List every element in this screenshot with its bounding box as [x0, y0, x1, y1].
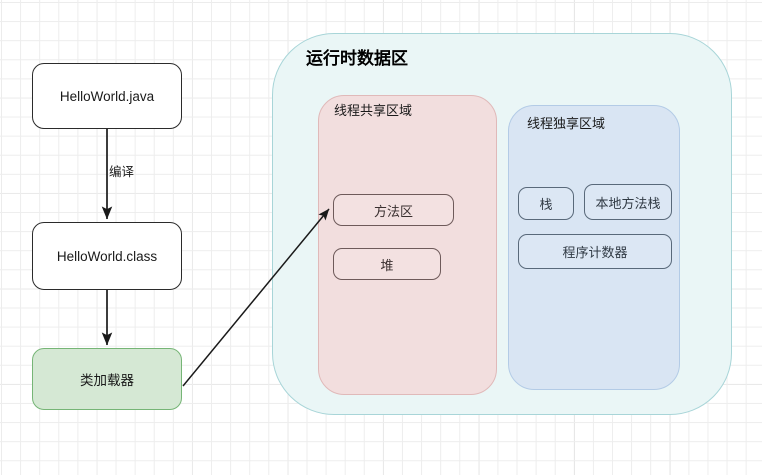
- stack-box[interactable]: 栈: [518, 187, 574, 220]
- method-area-box[interactable]: 方法区: [333, 194, 454, 226]
- thread-private-region-label: 线程独享区域: [527, 113, 605, 132]
- thread-shared-region-label: 线程共享区域: [334, 100, 412, 119]
- class-loader-box[interactable]: 类加载器: [32, 348, 182, 410]
- heap-label: 堆: [380, 255, 393, 274]
- source-file-box[interactable]: HelloWorld.java: [32, 63, 182, 129]
- native-method-stack-box[interactable]: 本地方法栈: [584, 184, 672, 220]
- native-method-stack-label: 本地方法栈: [595, 193, 660, 212]
- page-title: 运行时数据区: [306, 44, 408, 69]
- class-loader-label: 类加载器: [80, 369, 134, 389]
- class-file-box[interactable]: HelloWorld.class: [32, 222, 182, 290]
- diagram-canvas: 运行时数据区 线程共享区域 方法区 堆 线程独享区域 栈 本地方法栈 程序计数器…: [0, 0, 762, 475]
- thread-shared-region: [318, 95, 497, 395]
- heap-box[interactable]: 堆: [333, 248, 441, 280]
- program-counter-label: 程序计数器: [562, 242, 627, 261]
- method-area-label: 方法区: [374, 201, 413, 220]
- source-file-label: HelloWorld.java: [60, 89, 154, 104]
- class-file-label: HelloWorld.class: [57, 249, 157, 264]
- stack-label: 栈: [539, 194, 552, 213]
- compile-edge-label: 编译: [109, 161, 134, 180]
- program-counter-box[interactable]: 程序计数器: [518, 234, 672, 269]
